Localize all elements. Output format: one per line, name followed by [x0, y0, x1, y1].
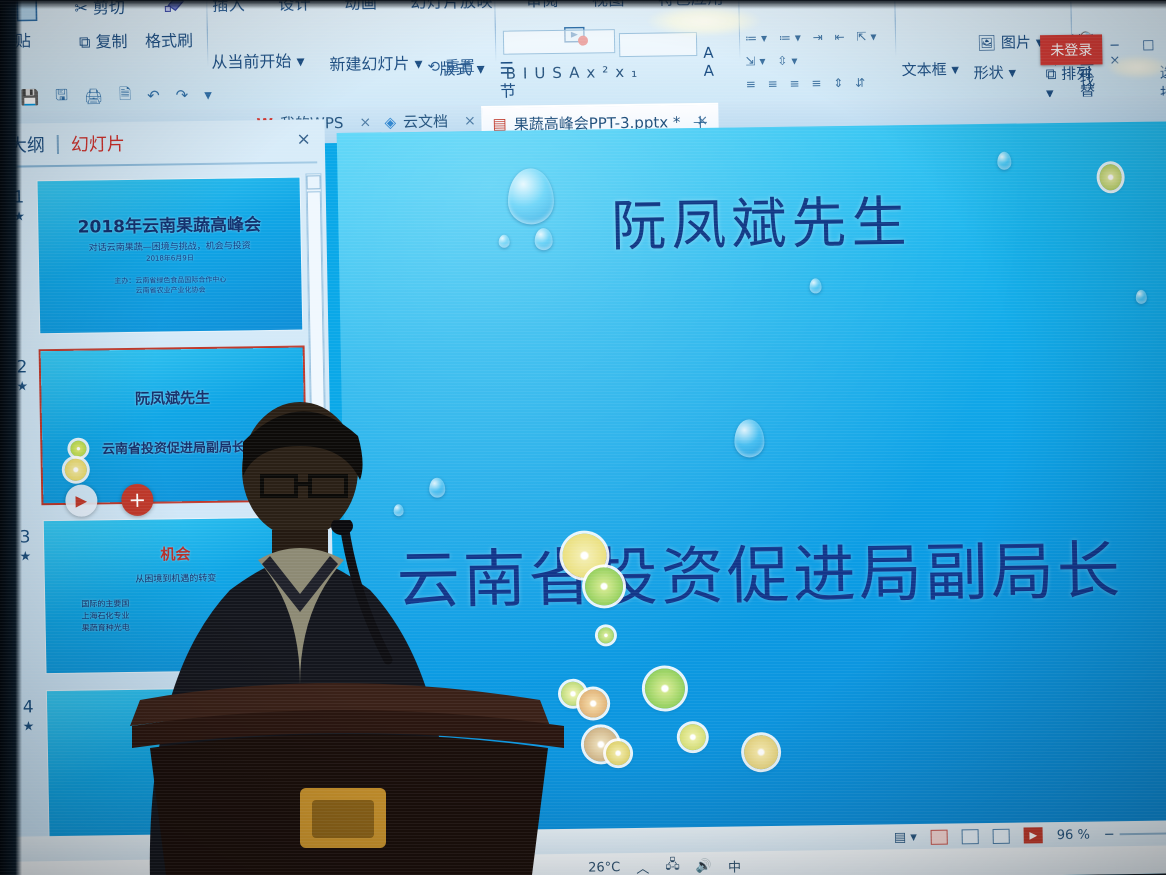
reset-label: 重置 [445, 57, 475, 75]
slide-editor-canvas[interactable]: 阮凤斌先生 云南省投资促进局副局长 [337, 121, 1166, 833]
copy-icon: ⧉ [79, 32, 91, 51]
tray-expand-icon[interactable]: ︿ [636, 857, 649, 875]
light-glare [648, 6, 760, 36]
zoom-out-button[interactable]: − [1104, 827, 1115, 842]
citrus-slice-icon [579, 689, 608, 717]
text-box-label: 文本框 [901, 61, 946, 80]
reset-icon: ⟲ [427, 58, 445, 76]
replace-icon: ⇄ [1080, 63, 1093, 81]
water-droplet-icon [997, 152, 1011, 170]
water-droplet-icon [393, 504, 403, 516]
slide-thumbnail-1[interactable]: 2018年云南果蔬高峰会 对话云南果蔬—困境与挑战，机会与投资 2018年6月9… [38, 178, 303, 334]
thumb2-title: 阮凤斌先生 [41, 386, 303, 411]
slide-subtitle-text[interactable]: 云南省投资促进局副局长 [396, 520, 1124, 621]
citrus-slice-icon [680, 724, 706, 750]
tab-cloud-docs-label: 云文档 [403, 111, 448, 133]
zoom-track[interactable] [1120, 833, 1166, 836]
clipboard-group: 粘贴 ✂ 剪切 ⧉ 复制 格式刷 [0, 0, 209, 78]
water-droplet-icon [734, 419, 765, 457]
from-current-label: 从当前开始 [211, 52, 291, 72]
undo-icon[interactable]: ↶ [147, 87, 160, 105]
print-icon[interactable]: 🖨 [84, 87, 103, 105]
zoom-level-label: 96 % [1057, 827, 1090, 842]
font-size-input[interactable] [619, 32, 697, 57]
cloud-doc-icon: ◈ [384, 113, 396, 131]
slide-thumbnail-3[interactable]: 机会 从困境到机遇的转变 国际的主要国 上海石化专业 果蔬育种光电 [44, 518, 309, 674]
grow-shrink-font-buttons[interactable]: A A [703, 43, 744, 80]
reset-button[interactable]: ⟲ 重置 [427, 55, 475, 77]
list-item[interactable]: 2 ★ 阮凤斌先生 云南省投资促进局副局长 ▶ + [7, 347, 310, 517]
close-panel-icon[interactable]: × [296, 129, 311, 149]
font-name-input[interactable] [503, 29, 615, 55]
tab-cloud-docs[interactable]: ◈ 云文档 × [384, 110, 476, 132]
picture-icon: 🖼 [977, 34, 1001, 52]
citrus-slice-icon [65, 459, 87, 481]
subscript-button[interactable]: x₁ [615, 63, 644, 81]
citrus-slice-icon [744, 735, 779, 769]
screen-bezel-top [0, 0, 1166, 9]
scroll-up-arrow-icon[interactable] [306, 175, 320, 189]
citrus-slice-icon [606, 741, 630, 765]
thumb1-title: 2018年云南果蔬高峰会 [38, 210, 300, 239]
panel-tabs: 大纲 幻灯片 [9, 130, 125, 158]
new-slide-label: 新建幻灯片 [329, 54, 409, 74]
customize-qat-icon[interactable]: ▾ [204, 86, 212, 104]
citrus-slice-icon [70, 441, 86, 457]
screen-surface: 插入 设计 动画 幻灯片放映 审阅 视图 特色应用 [0, 0, 1166, 875]
slide-navigator-panel: 大纲 幻灯片 × 1 ★ 2018年云南果蔬高峰会 对话云南果蔬—困境与挑战，机… [0, 119, 338, 863]
chevron-down-icon: ▾ [1008, 64, 1016, 82]
tab-slides[interactable]: 幻灯片 [71, 130, 125, 157]
weather-label: 26°C [588, 860, 620, 875]
chevron-down-icon: ▾ [951, 60, 959, 78]
superscript-button[interactable]: x² [586, 63, 615, 81]
slide-sorter-icon[interactable] [962, 829, 979, 844]
close-icon[interactable]: × [359, 114, 371, 130]
redo-icon[interactable]: ↷ [176, 86, 189, 104]
light-glare [1108, 56, 1166, 78]
save-as-icon[interactable]: 🖫 [55, 84, 68, 109]
paragraph-group: ≔▾ ≔▾ ⇥ ⇤ ⇱▾ ⇲▾ ⇳▾ ≡ ≡ ≡ ≡ ⇕ ⇵ ⌸▾ [745, 25, 896, 99]
ime-chinese-icon[interactable]: 中 [728, 856, 741, 875]
thumb3-line2: 从困境到机遇的转变 [45, 570, 307, 587]
thumb3-line5: 果蔬育种光电 [46, 620, 308, 635]
account-status-button[interactable]: 未登录 [1040, 34, 1103, 65]
picture-button[interactable]: 🖼 图片 ▾ [977, 31, 1044, 53]
strikethrough-button[interactable]: S [552, 64, 569, 82]
print-preview-icon[interactable]: 🗎 [119, 83, 132, 108]
copy-label: 复制 [95, 32, 127, 51]
panel-divider [3, 161, 317, 167]
zoom-slider[interactable]: − + [1104, 826, 1166, 842]
normal-view-icon[interactable] [931, 829, 948, 844]
text-box-button[interactable]: 文本框 ▾ [901, 58, 959, 80]
arrange-icon: ⧉ [1046, 65, 1062, 83]
group-divider [206, 0, 208, 67]
citrus-slice-icon [1099, 164, 1121, 190]
status-layout-icon[interactable]: ▤ ▾ [894, 830, 917, 845]
close-icon[interactable]: × [464, 113, 476, 129]
chevron-down-icon: ▾ [296, 52, 304, 71]
water-droplet-icon [499, 235, 510, 248]
slide-title-text[interactable]: 阮凤斌先生 [338, 173, 1166, 265]
new-slide-button[interactable]: 新建幻灯片 ▾ [329, 50, 423, 75]
paragraph-row-1[interactable]: ≔▾ ≔▾ ⇥ ⇤ ⇱▾ ⇲▾ ⇳▾ [745, 25, 896, 73]
format-painter-label[interactable]: 格式刷 [145, 27, 193, 52]
play-slide-button[interactable]: ▶ [65, 484, 98, 516]
tab-divider [57, 134, 59, 153]
bold-button[interactable]: B [505, 64, 523, 82]
water-droplet-icon [429, 478, 445, 498]
citrus-slice-icon [645, 668, 686, 709]
chevron-down-icon: ▾ [476, 59, 484, 78]
projected-screen-photo: 插入 设计 动画 幻灯片放映 审阅 视图 特色应用 [0, 0, 1166, 875]
list-item[interactable]: 1 ★ 2018年云南果蔬高峰会 对话云南果蔬—困境与挑战，机会与投资 2018… [4, 178, 307, 348]
shape-label: 形状 [974, 64, 1004, 82]
reading-view-icon[interactable] [993, 828, 1010, 843]
picture-label: 图片 [1001, 33, 1031, 51]
network-icon[interactable]: 🖧 [665, 855, 680, 875]
water-droplet-icon [1136, 290, 1147, 304]
slide-thumbnail-4[interactable]: 我们 投入到 [47, 687, 312, 843]
font-color-button[interactable]: A [569, 64, 587, 82]
water-droplet-icon [534, 228, 552, 250]
shape-button[interactable]: 形状 ▾ [973, 62, 1016, 84]
start-slideshow-icon[interactable]: ▶ [1024, 827, 1043, 843]
thumb4-line2: 投入到 [48, 753, 310, 776]
thumb3-title: 机会 [44, 542, 306, 567]
volume-icon[interactable]: 🔊 [696, 858, 712, 873]
underline-button[interactable]: U [534, 64, 552, 82]
wps-presentation-window: 插入 设计 动画 幻灯片放映 审阅 视图 特色应用 [0, 0, 1166, 875]
citrus-slice-icon [598, 627, 614, 643]
screen-bezel-left [0, 0, 22, 875]
copy-button[interactable]: ⧉ 复制 [79, 28, 128, 53]
thumb4-title: 我们 [47, 715, 309, 740]
add-slide-button[interactable]: + [121, 484, 154, 516]
water-droplet-icon [507, 168, 554, 225]
water-droplet-icon [809, 278, 821, 293]
list-item[interactable]: 3 ★ 机会 从困境到机遇的转变 国际的主要国 上海石化专业 果蔬育种光电 [10, 517, 313, 687]
from-current-slide-button[interactable]: 从当前开始 ▾ [211, 48, 305, 73]
font-style-buttons: BIUSAx²x₁ [505, 63, 644, 83]
slide-thumbnail-2[interactable]: 阮凤斌先生 云南省投资促进局副局长 [41, 348, 306, 504]
italic-button[interactable]: I [523, 64, 535, 82]
chevron-down-icon: ▾ [414, 54, 422, 73]
save-icon[interactable]: 💾 [20, 88, 39, 106]
